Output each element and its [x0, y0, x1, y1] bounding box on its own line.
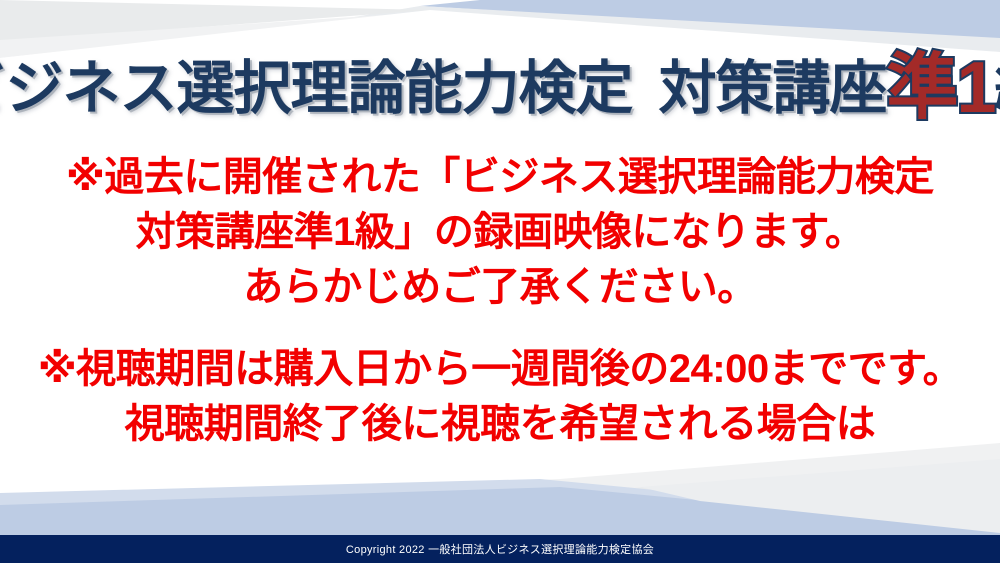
- notice-paragraph-viewing-period: ※視聴期間は購入日から一週間後の24:00までです。 視聴期間終了後に視聴を希望…: [0, 342, 1000, 508]
- notice-line: ※視聴期間は購入日から一週間後の24:00までです。: [0, 342, 1000, 397]
- title-grade-navy-text: 級: [995, 60, 1000, 118]
- notice-line: 視聴期間終了後に視聴を希望される場合は: [0, 397, 1000, 452]
- notice-paragraph-recording: ※過去に開催された「ビジネス選択理論能力検定 対策講座準1級」の録画映像になりま…: [0, 150, 1000, 316]
- body-content: ※過去に開催された「ビジネス選択理論能力検定 対策講座準1級」の録画映像になりま…: [0, 150, 1000, 507]
- footer-bar: Copyright 2022 一般社団法人ビジネス選択理論能力検定協会: [0, 535, 1000, 563]
- slide-header: ビジネス選択理論能力検定 対策講座 準1 級: [0, 44, 1000, 124]
- title-sub-text: 対策講座: [658, 60, 886, 118]
- title-main-text: ビジネス選択理論能力検定: [0, 60, 632, 118]
- notice-line: 対策講座準1級」の録画映像になります。: [0, 205, 1000, 260]
- copyright-text: Copyright 2022 一般社団法人ビジネス選択理論能力検定協会: [346, 541, 654, 557]
- notice-line: あらかじめご了承ください。: [0, 260, 1000, 315]
- top-gray-band-left: [0, 0, 430, 42]
- title-grade-red-text: 準1: [886, 52, 994, 124]
- notice-line: 再購入が必要になります。: [0, 452, 1000, 507]
- top-blue-band: [420, 0, 1000, 40]
- slide-root: ビジネス選択理論能力検定 対策講座 準1 級 ※過去に開催された「ビジネス選択理…: [0, 0, 1000, 563]
- page-title: ビジネス選択理論能力検定 対策講座 準1 級: [0, 48, 1000, 120]
- paragraph-spacer: [0, 316, 1000, 342]
- notice-line: ※過去に開催された「ビジネス選択理論能力検定: [0, 150, 1000, 205]
